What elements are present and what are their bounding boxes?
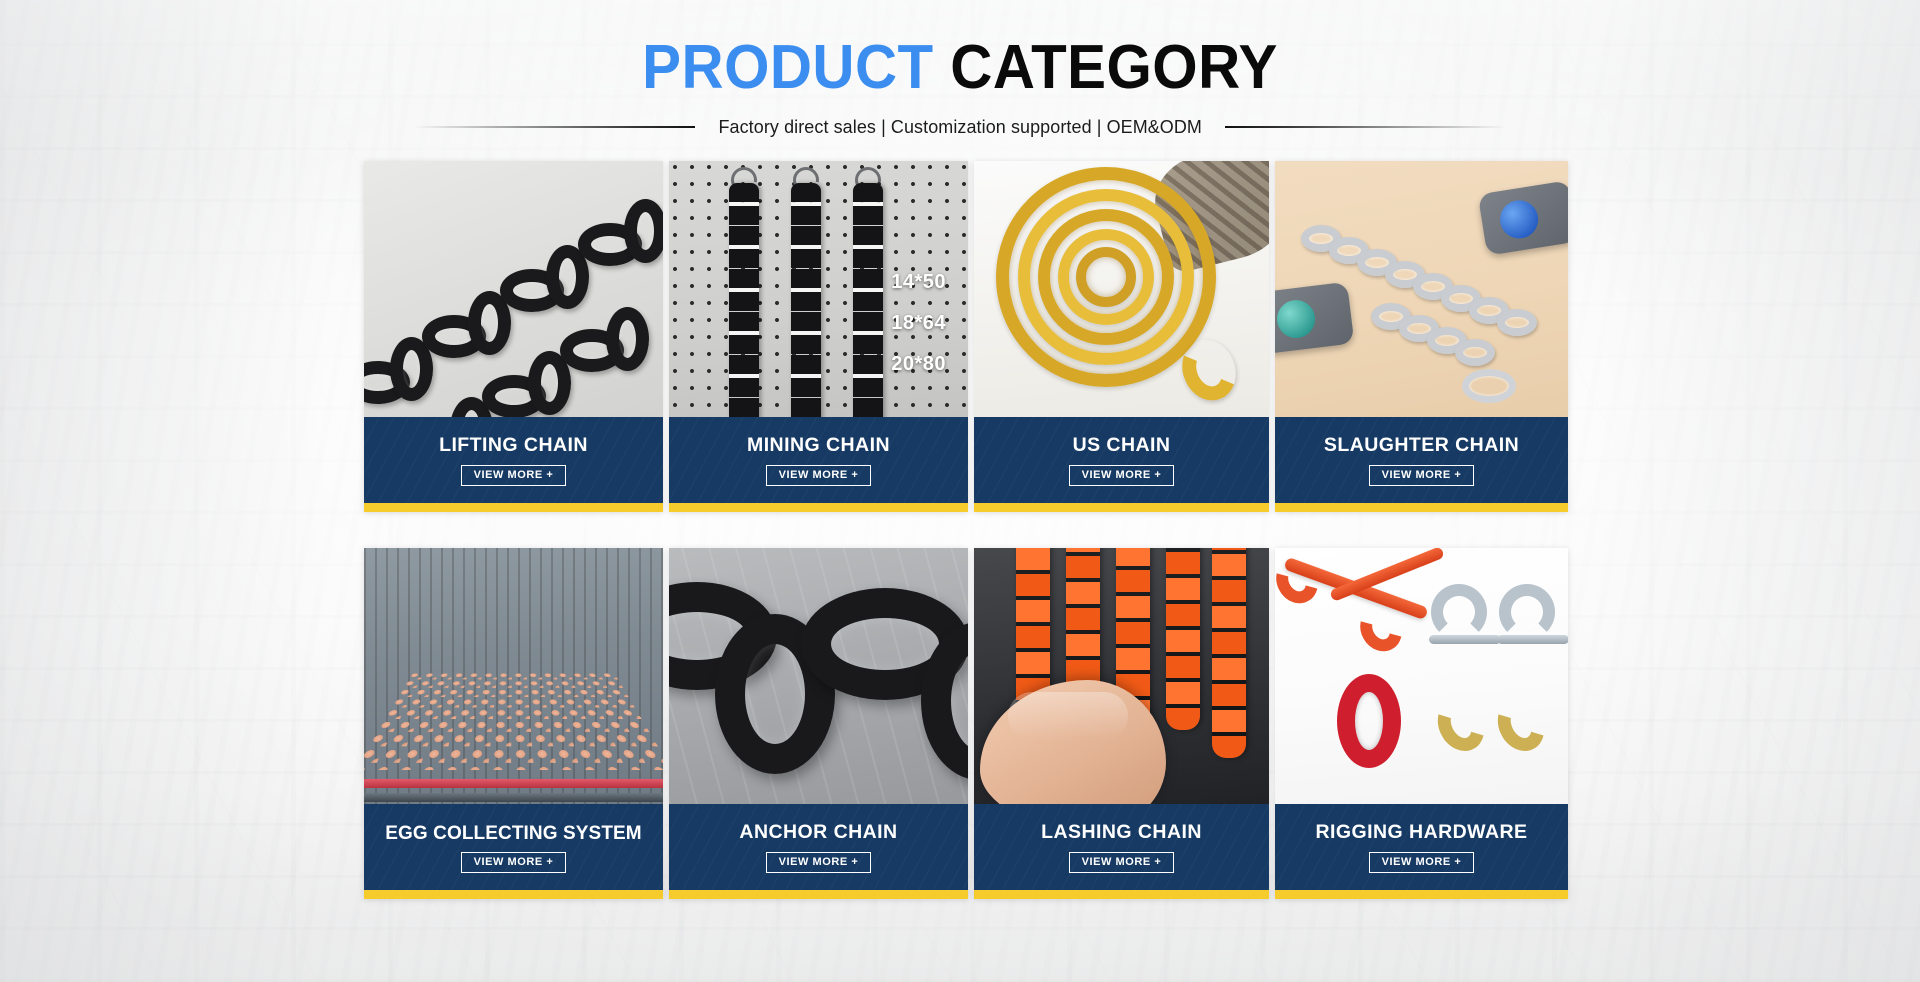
card-media: [669, 548, 968, 804]
page-title-accent: PRODUCT: [642, 33, 933, 102]
card-media: [364, 161, 663, 417]
category-row: EGG COLLECTING SYSTEM VIEW MORE + ANCHO: [364, 548, 1556, 899]
card-media: [974, 548, 1269, 804]
overlay-size-3: 20*80: [891, 353, 946, 376]
mining-size-overlays: 14*50 18*64 20*80: [891, 271, 946, 376]
overlay-size-1: 14*50: [891, 271, 946, 294]
overlay-size-2: 18*64: [891, 312, 946, 335]
card-title: RIGGING HARDWARE: [1316, 823, 1528, 843]
page-title-plain: CATEGORY: [950, 33, 1278, 102]
card-accent-bar: [974, 890, 1269, 899]
card-title: LASHING CHAIN: [1041, 823, 1202, 843]
card-footer: ANCHOR CHAIN VIEW MORE +: [669, 804, 968, 890]
category-card-us-chain[interactable]: US CHAIN VIEW MORE +: [974, 161, 1269, 512]
card-title: ANCHOR CHAIN: [739, 823, 897, 843]
view-more-button[interactable]: VIEW MORE +: [1369, 852, 1475, 873]
category-card-lifting-chain[interactable]: LIFTING CHAIN VIEW MORE +: [364, 161, 663, 512]
lashing-chain-photo: [974, 548, 1269, 804]
card-accent-bar: [1275, 503, 1568, 512]
view-more-button[interactable]: VIEW MORE +: [461, 465, 567, 486]
view-more-button[interactable]: VIEW MORE +: [766, 852, 872, 873]
card-media: [974, 161, 1269, 417]
slaughter-chain-photo: [1275, 161, 1568, 417]
anchor-chain-photo: [669, 548, 968, 804]
card-footer: US CHAIN VIEW MORE +: [974, 417, 1269, 503]
card-title: US CHAIN: [1073, 436, 1171, 456]
subtitle-text: Factory direct sales | Customization sup…: [703, 116, 1218, 138]
card-media: 14*50 18*64 20*80: [669, 161, 968, 417]
card-title: LIFTING CHAIN: [439, 436, 588, 456]
card-media: [364, 548, 663, 804]
card-footer: LASHING CHAIN VIEW MORE +: [974, 804, 1269, 890]
egg-collecting-system-photo: [364, 548, 663, 804]
card-footer: SLAUGHTER CHAIN VIEW MORE +: [1275, 417, 1568, 503]
card-footer: MINING CHAIN VIEW MORE +: [669, 417, 968, 503]
card-footer: RIGGING HARDWARE VIEW MORE +: [1275, 804, 1568, 890]
card-media: [1275, 548, 1568, 804]
card-title: EGG COLLECTING SYSTEM: [385, 824, 642, 843]
product-category-grid: LIFTING CHAIN VIEW MORE +: [364, 161, 1556, 899]
category-card-rigging-hardware[interactable]: RIGGING HARDWARE VIEW MORE +: [1275, 548, 1568, 899]
category-card-anchor-chain[interactable]: ANCHOR CHAIN VIEW MORE +: [669, 548, 968, 899]
card-title: MINING CHAIN: [747, 436, 890, 456]
us-chain-photo: [974, 161, 1269, 417]
card-accent-bar: [364, 890, 663, 899]
product-category-page: PRODUCT CATEGORY Factory direct sales | …: [0, 0, 1920, 982]
card-accent-bar: [669, 890, 968, 899]
category-card-lashing-chain[interactable]: LASHING CHAIN VIEW MORE +: [974, 548, 1269, 899]
card-accent-bar: [364, 503, 663, 512]
divider-right: [1225, 126, 1506, 128]
lifting-chain-photo: [364, 161, 663, 417]
category-card-mining-chain[interactable]: 14*50 18*64 20*80 MINING CHAIN VIEW MORE…: [669, 161, 968, 512]
view-more-button[interactable]: VIEW MORE +: [766, 465, 872, 486]
rigging-hardware-photo: [1275, 548, 1568, 804]
card-footer: EGG COLLECTING SYSTEM VIEW MORE +: [364, 804, 663, 890]
divider-left: [414, 126, 695, 128]
category-card-slaughter-chain[interactable]: SLAUGHTER CHAIN VIEW MORE +: [1275, 161, 1568, 512]
page-title: PRODUCT CATEGORY: [58, 35, 1863, 100]
card-title: SLAUGHTER CHAIN: [1324, 436, 1519, 456]
card-accent-bar: [1275, 890, 1568, 899]
view-more-button[interactable]: VIEW MORE +: [1069, 852, 1175, 873]
card-accent-bar: [669, 503, 968, 512]
section-header: PRODUCT CATEGORY Factory direct sales | …: [0, 0, 1920, 138]
category-row: LIFTING CHAIN VIEW MORE +: [364, 161, 1556, 512]
view-more-button[interactable]: VIEW MORE +: [1369, 465, 1475, 486]
card-media: [1275, 161, 1568, 417]
category-card-egg-collecting-system[interactable]: EGG COLLECTING SYSTEM VIEW MORE +: [364, 548, 663, 899]
card-accent-bar: [974, 503, 1269, 512]
subtitle-row: Factory direct sales | Customization sup…: [414, 116, 1506, 138]
card-footer: LIFTING CHAIN VIEW MORE +: [364, 417, 663, 503]
view-more-button[interactable]: VIEW MORE +: [1069, 465, 1175, 486]
view-more-button[interactable]: VIEW MORE +: [461, 852, 567, 873]
